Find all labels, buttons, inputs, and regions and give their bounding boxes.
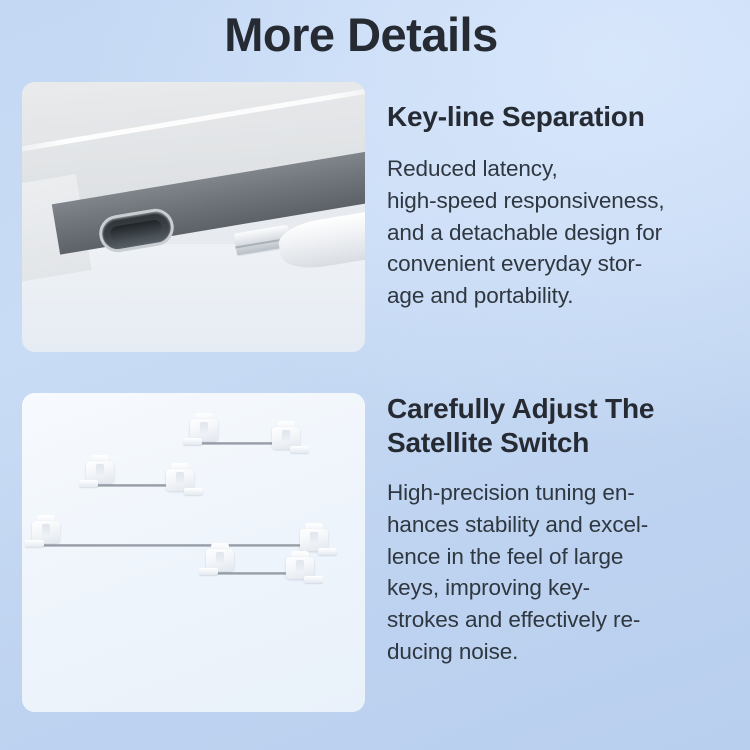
usb-c-port-photo [22, 82, 365, 352]
stabilizer-housing [270, 421, 304, 455]
stabilizer-housing [84, 455, 118, 489]
body-line-1: Reduced latency, [387, 153, 735, 185]
stabilizer-housing [204, 543, 238, 577]
stabilizer-housing-foot [184, 488, 203, 495]
section-heading-key-line-separation: Key-line Separation [387, 100, 735, 134]
stabilizer-housing-notch [176, 472, 184, 485]
section-key-line-separation: Key-line Separation Reduced latency,high… [387, 100, 735, 312]
section-heading-satellite-switch: Carefully Adjust TheSatellite Switch [387, 392, 735, 460]
page-title: More Details [0, 8, 750, 62]
stabilizer-housing-foot [25, 540, 44, 547]
stabilizer-housing [30, 515, 64, 549]
stabilizer-housing-notch [200, 422, 208, 435]
stabilizer-housing-foot [183, 438, 202, 445]
section-body-key-line-separation: Reduced latency,high-speed responsivenes… [387, 153, 735, 312]
body-line-3: lence in the feel of large [387, 541, 735, 573]
body-line-6: ducing noise. [387, 636, 735, 668]
satellite-switch-photo [22, 393, 365, 712]
stabilizer-housing-notch [96, 464, 104, 477]
stabilizer-housing-notch [296, 560, 304, 573]
stabilizer-housing-foot [199, 568, 218, 575]
body-line-3: and a detachable design for [387, 217, 735, 249]
stabilizer-housing-notch [42, 524, 50, 537]
product-detail-page: More Details Key-line Separation Reduced… [0, 0, 750, 750]
section-satellite-switch: Carefully Adjust TheSatellite Switch Hig… [387, 392, 735, 668]
body-line-2: hances stability and excel- [387, 509, 735, 541]
stabilizer-housing-foot [290, 446, 309, 453]
body-line-1: High-precision tuning en- [387, 477, 735, 509]
stabilizer-housing-notch [282, 430, 290, 443]
image-card-usb-c-port [22, 82, 365, 352]
stabilizer-housing-notch [216, 552, 224, 565]
stabilizer-housing-notch [310, 532, 318, 545]
stabilizer-wire [34, 544, 302, 547]
image-card-satellite-switch [22, 393, 365, 712]
body-line-5: age and portability. [387, 280, 735, 312]
heading-line-2: Satellite Switch [387, 426, 735, 460]
usb-c-port-cavity [110, 219, 164, 242]
stabilizer-housing [284, 551, 318, 585]
body-line-2: high-speed responsiveness, [387, 185, 735, 217]
stabilizer-housing [164, 463, 198, 497]
stabilizer-housing-foot [318, 548, 337, 555]
stabilizer-housing-foot [304, 576, 323, 583]
body-line-4: keys, improving key- [387, 572, 735, 604]
section-body-satellite-switch: High-precision tuning en-hances stabilit… [387, 477, 735, 667]
heading-line-1: Carefully Adjust The [387, 392, 735, 426]
body-line-5: strokes and effectively re- [387, 604, 735, 636]
stabilizer-housing-foot [79, 480, 98, 487]
body-line-4: convenient everyday stor- [387, 248, 735, 280]
stabilizer-housing [188, 413, 222, 447]
